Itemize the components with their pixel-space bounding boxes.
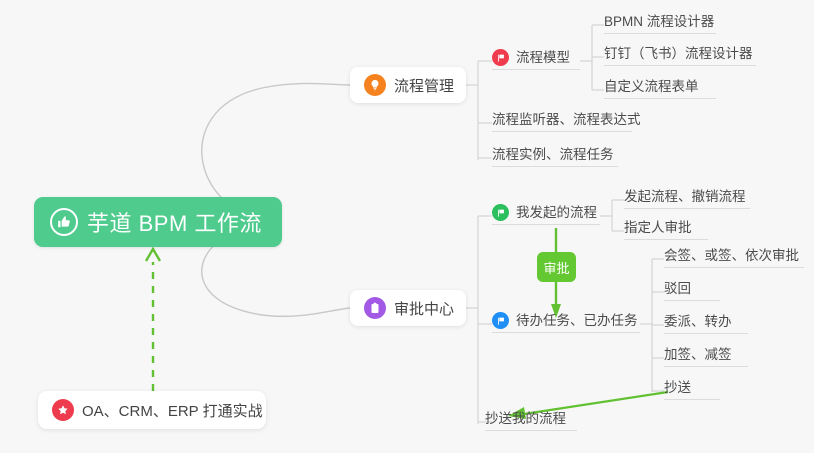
leaf-label: 加签、减签 bbox=[664, 347, 732, 363]
leaf-label: BPMN 流程设计器 bbox=[604, 14, 714, 30]
lightbulb-icon bbox=[364, 74, 386, 96]
node-assignee-approval[interactable]: 指定人审批 bbox=[624, 214, 708, 240]
node-delegate-transfer[interactable]: 委派、转办 bbox=[664, 308, 748, 334]
leaf-label: 会签、或签、依次审批 bbox=[664, 248, 799, 264]
leaf-label: 我发起的流程 bbox=[516, 205, 597, 221]
approval-badge: 审批 bbox=[537, 252, 576, 282]
flag-blue-icon bbox=[492, 312, 509, 329]
node-cc-my-flow[interactable]: 抄送我的流程 bbox=[485, 405, 577, 431]
clipboard-icon bbox=[364, 297, 386, 319]
leaf-label: 流程监听器、流程表达式 bbox=[492, 112, 641, 128]
node-add-remove-sign[interactable]: 加签、减签 bbox=[664, 341, 748, 367]
flag-green-icon bbox=[492, 204, 509, 221]
leaf-label: 待办任务、已办任务 bbox=[516, 313, 638, 329]
mindmap-canvas: 芋道 BPM 工作流 流程管理 审批中心 流程 bbox=[0, 0, 814, 453]
leaf-label: 指定人审批 bbox=[624, 220, 692, 236]
leaf-label: 抄送 bbox=[664, 380, 691, 396]
approval-badge-label: 审批 bbox=[543, 258, 569, 277]
thumbs-up-icon bbox=[50, 208, 78, 236]
node-dingtalk-designer[interactable]: 钉钉（飞书）流程设计器 bbox=[604, 40, 756, 66]
branch-label-process-manage: 流程管理 bbox=[394, 75, 454, 96]
node-custom-form[interactable]: 自定义流程表单 bbox=[604, 73, 716, 99]
node-process-model[interactable]: 流程模型 bbox=[492, 44, 580, 70]
leaf-label: 自定义流程表单 bbox=[604, 79, 699, 95]
branch-node-process-manage[interactable]: 流程管理 bbox=[350, 67, 466, 103]
node-process-instance[interactable]: 流程实例、流程任务 bbox=[492, 141, 618, 167]
branch-label-approval-center: 审批中心 bbox=[394, 298, 454, 319]
leaf-label: 流程模型 bbox=[516, 50, 570, 66]
leaf-label: 抄送我的流程 bbox=[485, 411, 566, 427]
root-label: 芋道 BPM 工作流 bbox=[87, 206, 262, 238]
root-node[interactable]: 芋道 BPM 工作流 bbox=[34, 197, 282, 247]
node-start-cancel-flow[interactable]: 发起流程、撤销流程 bbox=[624, 183, 750, 209]
node-bpmn-designer[interactable]: BPMN 流程设计器 bbox=[604, 8, 716, 34]
node-countersign[interactable]: 会签、或签、依次审批 bbox=[664, 242, 804, 268]
node-carbon-copy[interactable]: 抄送 bbox=[664, 374, 720, 400]
leaf-label: 委派、转办 bbox=[664, 314, 732, 330]
branch-node-approval-center[interactable]: 审批中心 bbox=[350, 290, 466, 326]
node-process-listener[interactable]: 流程监听器、流程表达式 bbox=[492, 106, 632, 132]
node-my-initiated[interactable]: 我发起的流程 bbox=[492, 199, 600, 225]
leaf-label: 钉钉（飞书）流程设计器 bbox=[604, 46, 753, 62]
node-reject[interactable]: 驳回 bbox=[664, 275, 720, 301]
star-icon bbox=[52, 399, 74, 421]
node-todo-done-tasks[interactable]: 待办任务、已办任务 bbox=[492, 307, 640, 333]
leaf-label: 发起流程、撤销流程 bbox=[624, 189, 746, 205]
footer-node-integration[interactable]: OA、CRM、ERP 打通实战 bbox=[38, 391, 266, 429]
leaf-label: 流程实例、流程任务 bbox=[492, 147, 614, 163]
flag-red-icon bbox=[492, 49, 509, 66]
leaf-label: 驳回 bbox=[664, 281, 691, 297]
footer-node-label: OA、CRM、ERP 打通实战 bbox=[82, 400, 263, 421]
